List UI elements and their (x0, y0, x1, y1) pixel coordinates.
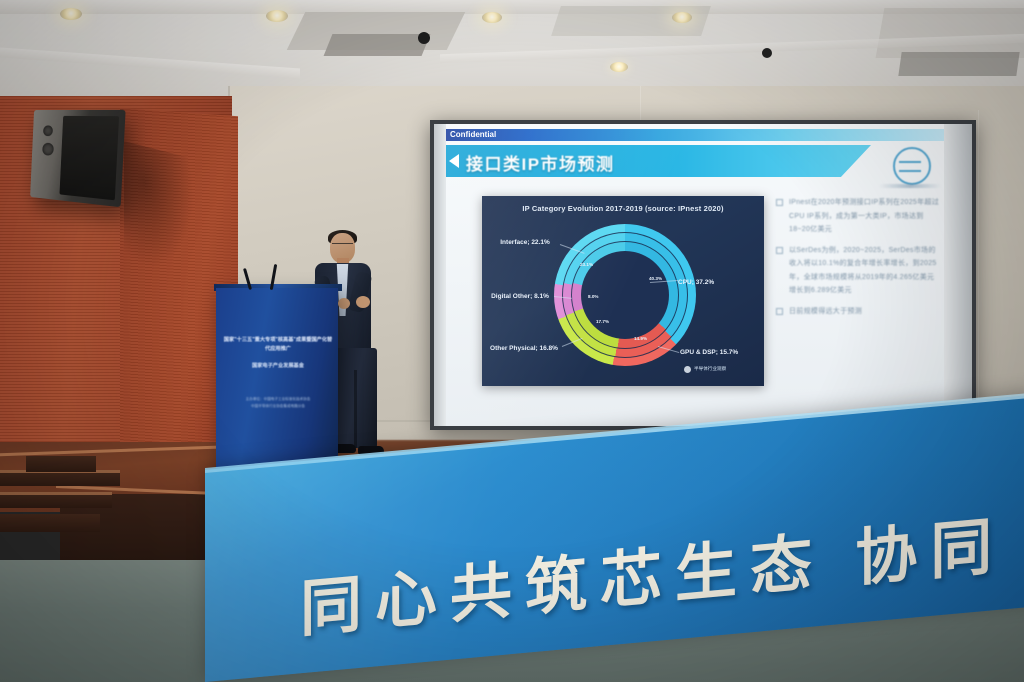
ceiling-sensor (762, 48, 772, 58)
bullet-item: 日前规模得远大于预测 (776, 305, 940, 319)
screen-left-bezel (434, 124, 446, 426)
speaker-shadow (124, 141, 194, 278)
podium-headline: 国家"十三五"重大专项"核高基"成果暨国产化替代应用推广 (222, 336, 334, 354)
inner-pct-digital-other: 8.0% (588, 294, 598, 299)
company-logo-caption (879, 184, 941, 188)
conference-photo-scene: Confidential 接口类IP市场预测 IP Category Evolu… (0, 0, 1024, 682)
ceiling-downlight (610, 62, 628, 72)
stage-step (0, 514, 100, 532)
chart-label-interface: Interface; 22.1% (488, 238, 562, 247)
chart-panel: IP Category Evolution 2017-2019 (source:… (482, 196, 764, 386)
presenter-leg-gap (354, 370, 357, 448)
chart-label-cpu: CPU; 37.2% (678, 278, 762, 287)
speaker-driver (43, 125, 53, 136)
podium: ◈ GK 国家"十三五"重大专项"核高基"成果暨国产化替代应用推广 国家电子产业… (216, 288, 338, 484)
ceiling-downlight (266, 10, 288, 22)
ceiling-downlight (482, 12, 502, 23)
bullet-square-icon (776, 247, 783, 254)
ceiling-slot (324, 34, 431, 56)
glasses-icon (332, 243, 353, 249)
slide-bullet-list: IPnest在2020年预测接口IP系列在2025年超过CPU IP系列，成为第… (776, 196, 940, 406)
bullet-text: IPnest在2020年预测接口IP系列在2025年超过CPU IP系列，成为第… (789, 199, 939, 233)
podium-footnote: 主办单位：中国电子工业标准化技术协会 中国半导体行业协会集成电路分会 (232, 396, 324, 409)
bullet-square-icon (776, 308, 783, 315)
chart-label-other-physical: Other Physical; 16.8% (484, 344, 564, 353)
ceiling-downlight (672, 12, 692, 23)
back-arrow-icon (449, 154, 459, 168)
speaker-driver (42, 143, 54, 156)
bullet-item: 以SerDes为例，2020~2025，SerDes市场的收入将以10.1%的复… (776, 244, 940, 298)
inner-pct-interface: 23.1% (580, 262, 593, 267)
ceiling-slot (898, 52, 1019, 76)
bullet-square-icon (776, 199, 783, 206)
donut-chart: 40.3% 23.1% 17.7% 14.9% 8.0% (554, 224, 696, 366)
wall-speaker-icon (30, 110, 126, 207)
bullet-text: 以SerDes为例，2020~2025，SerDes市场的收入将以10.1%的复… (789, 247, 937, 295)
chart-label-gpu-dsp: GPU & DSP; 15.7% (680, 348, 758, 357)
speaker-grill (59, 116, 119, 200)
stage-step-tread (0, 492, 112, 495)
chart-label-digital-other: Digital Other; 8.1% (484, 292, 556, 301)
presenter-hand-left (338, 298, 350, 309)
confidential-label: Confidential (450, 128, 496, 141)
screen-right-bezel (944, 124, 972, 426)
company-logo-icon (893, 147, 931, 185)
watermark-icon (684, 366, 691, 373)
ceiling-beam (0, 0, 1024, 14)
projection-screen: Confidential 接口类IP市场预测 IP Category Evolu… (434, 124, 972, 426)
inner-pct-gpu-dsp: 14.9% (634, 336, 647, 341)
ceiling-downlight (60, 8, 82, 20)
wall-panel-line (978, 110, 979, 430)
stage-step (26, 456, 96, 472)
ceiling-sensor (418, 32, 430, 44)
presenter-hand-right (356, 296, 370, 308)
ceiling-panel (876, 8, 1024, 58)
chart-title: IP Category Evolution 2017-2019 (source:… (482, 204, 764, 213)
inner-pct-other-physical: 17.7% (596, 319, 609, 324)
slide-title: 接口类IP市场预测 (466, 150, 615, 175)
podium-subhead: 国家电子产业发展基金 (226, 362, 330, 370)
bullet-text: 日前规模得远大于预测 (789, 308, 862, 315)
chart-watermark: 半导体行业观察 (694, 366, 726, 372)
confidential-bar (446, 129, 956, 141)
bullet-item: IPnest在2020年预测接口IP系列在2025年超过CPU IP系列，成为第… (776, 196, 940, 237)
